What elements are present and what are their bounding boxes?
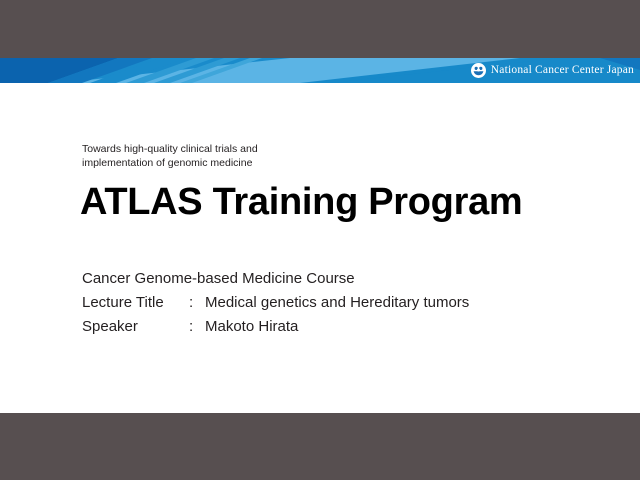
- organization-name: National Cancer Center Japan: [491, 65, 634, 77]
- top-dark-band: [0, 0, 640, 58]
- subtitle-line-2: implementation of genomic medicine: [82, 156, 502, 170]
- slide-content: Towards high-quality clinical trials and…: [0, 83, 640, 413]
- ncc-emblem-icon: [471, 63, 486, 78]
- lecture-title-value: Medical genetics and Hereditary tumors: [205, 291, 469, 315]
- slide-subtitle: Towards high-quality clinical trials and…: [82, 142, 502, 170]
- speaker-row: Speaker : Makoto Hirata: [82, 315, 469, 339]
- lecture-title-label: Lecture Title: [82, 291, 189, 315]
- bottom-dark-band: [0, 413, 640, 480]
- speaker-label: Speaker: [82, 315, 189, 339]
- speaker-value: Makoto Hirata: [205, 315, 298, 339]
- lecture-title-colon: :: [189, 291, 205, 315]
- organization-logo: National Cancer Center Japan: [471, 60, 634, 81]
- presentation-title-slide: National Cancer Center Japan Towards hig…: [0, 0, 640, 480]
- speaker-colon: :: [189, 315, 205, 339]
- subtitle-line-1: Towards high-quality clinical trials and: [82, 142, 502, 156]
- slide-details: Cancer Genome-based Medicine Course Lect…: [82, 267, 469, 339]
- course-name: Cancer Genome-based Medicine Course: [82, 267, 469, 291]
- slide-title: ATLAS Training Program: [80, 183, 522, 221]
- lecture-title-row: Lecture Title : Medical genetics and Her…: [82, 291, 469, 315]
